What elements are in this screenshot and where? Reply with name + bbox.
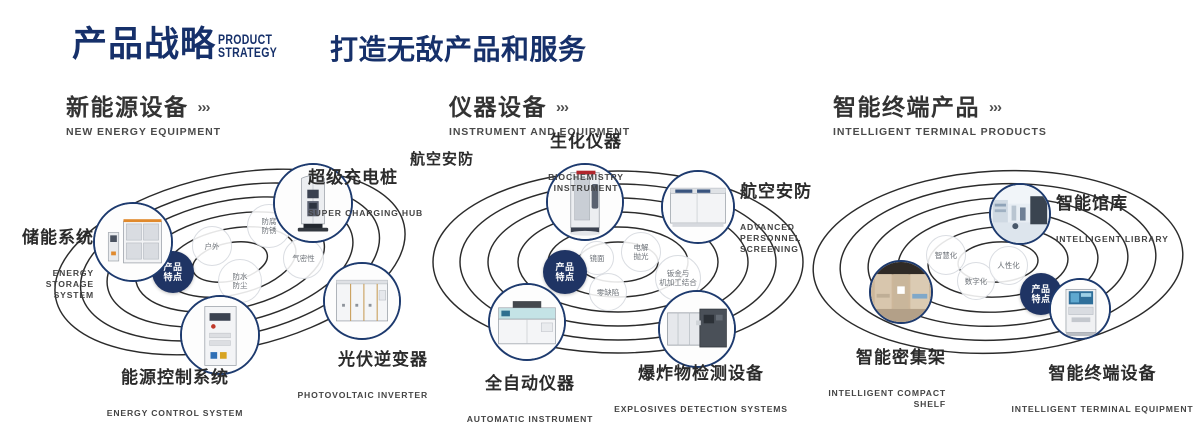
label-cn: 爆炸物检测设备 (606, 364, 796, 383)
node-intelligent-compact-shelf[interactable] (869, 260, 933, 324)
section-heading-cn: 新能源设备 (66, 96, 189, 119)
section-heading-en: INTELLIGENT TERMINAL PRODUCTS (833, 126, 1047, 138)
label-cn: 光伏逆变器 (278, 350, 428, 369)
feature-bubble: 气密性 (283, 238, 324, 279)
self-service-kiosk-icon (1051, 280, 1109, 338)
library-interior-icon (991, 185, 1049, 243)
label-en: EXPLOSIVES DETECTION SYSTEMS (606, 404, 796, 415)
diagram-instrument: 镜面 电解 抛光 钣金与 机加工结合 零缺陷 产品 特点 生化仪器 BIOCHE… (418, 150, 818, 395)
node-automatic-instrument[interactable] (488, 283, 566, 361)
pv-inverter-cabinet-icon (325, 264, 399, 338)
feature-bubble: 电解 抛光 (621, 232, 661, 272)
label-cn: 智能密集架 (776, 348, 946, 367)
label-en: INTELLIGENT TERMINAL EQUIPMENT (1005, 404, 1200, 415)
feature-bubble: 人性化 (989, 246, 1028, 285)
chevron-right-icon: ››› (989, 99, 1001, 116)
node-intelligent-library[interactable] (989, 183, 1051, 245)
label-en: ENERGY STORAGE SYSTEM (2, 268, 94, 301)
label-automatic-instrument: 全自动仪器 AUTOMATIC INSTRUMENT (440, 356, 620, 443)
label-intelligent-compact-shelf: 智能密集架 INTELLIGENT COMPACT SHELF (776, 330, 946, 428)
label-en: PHOTOVOLTAIC INVERTER (278, 390, 428, 401)
label-intelligent-library: 智能馆库 INTELLIGENT LIBRARY (1056, 176, 1186, 263)
label-cn: 能源控制系统 (80, 368, 270, 387)
label-cn: 航空安防 (410, 150, 500, 169)
label-cn: 储能系统 (2, 228, 94, 247)
screening-machine-icon (663, 172, 733, 242)
page-title: 产品战略 (72, 27, 216, 62)
page-title-english: PRODUCT STRATEGY (218, 33, 277, 59)
label-en: AUTOMATIC INSTRUMENT (440, 414, 620, 425)
node-intelligent-terminal-equipment[interactable] (1049, 278, 1111, 340)
node-energy-storage-system[interactable] (93, 202, 173, 282)
compact-shelf-icon (871, 262, 931, 322)
feature-bubble: 户外 (192, 226, 232, 266)
automatic-analyzer-icon (490, 285, 564, 359)
label-cn: 生化仪器 (526, 132, 646, 151)
section-heading-cn: 智能终端产品 (833, 96, 980, 119)
node-advanced-personnel-screening[interactable] (661, 170, 735, 244)
chevron-right-icon: ››› (198, 99, 210, 116)
label-en: INTELLIGENT COMPACT SHELF (776, 388, 946, 410)
label-en: INTELLIGENT LIBRARY (1056, 234, 1186, 245)
label-en: BIOCHEMISTRY INSTRUMENT (526, 172, 646, 194)
label-energy-control-system: 能源控制系统 ENERGY CONTROL SYSTEM (80, 350, 270, 437)
page-header: 产品战略 PRODUCT STRATEGY 打造无敌产品和服务 (0, 0, 1200, 88)
label-photovoltaic-inverter: 光伏逆变器 PHOTOVOLTAIC INVERTER (278, 332, 428, 419)
section-heading-en: NEW ENERGY EQUIPMENT (66, 126, 221, 138)
label-intelligent-terminal-equipment: 智能终端设备 INTELLIGENT TERMINAL EQUIPMENT (1005, 346, 1200, 433)
label-cn: 智能终端设备 (1005, 364, 1200, 383)
section-heading-intelligent: 智能终端产品››› INTELLIGENT TERMINAL PRODUCTS (833, 96, 1047, 138)
label-energy-storage-system: 储能系统 ENERGY STORAGE SYSTEM (2, 210, 94, 319)
label-explosives-detection-systems: 爆炸物检测设备 EXPLOSIVES DETECTION SYSTEMS (606, 346, 796, 433)
label-en: ENERGY CONTROL SYSTEM (80, 408, 270, 419)
product-strategy-infographic: 产品战略 PRODUCT STRATEGY 打造无敌产品和服务 新能源设备›››… (0, 0, 1200, 422)
section-heading-new-energy: 新能源设备››› NEW ENERGY EQUIPMENT (66, 96, 221, 138)
diagram-new-energy: 户外 防腐 防锈 防水 防尘 气密性 产品 特点 储能系统 ENERGY STO… (40, 150, 430, 395)
page-subtitle: 打造无敌产品和服务 (330, 36, 587, 64)
label-cn: 全自动仪器 (440, 374, 620, 393)
feature-bubble: 零缺陷 (589, 273, 627, 311)
energy-storage-cabinet-icon (95, 204, 171, 280)
label-biochemistry-instrument: 生化仪器 BIOCHEMISTRY INSTRUMENT (526, 114, 646, 212)
node-photovoltaic-inverter[interactable] (323, 262, 401, 340)
label-aviation-security-overlay: 航空安防 (410, 132, 500, 187)
diagram-intelligent-terminal: 智慧化 数字化 人性化 产品 特点 智能馆库 INTELLIGENT LIBRA… (800, 150, 1200, 395)
label-cn: 智能馆库 (1056, 194, 1186, 213)
